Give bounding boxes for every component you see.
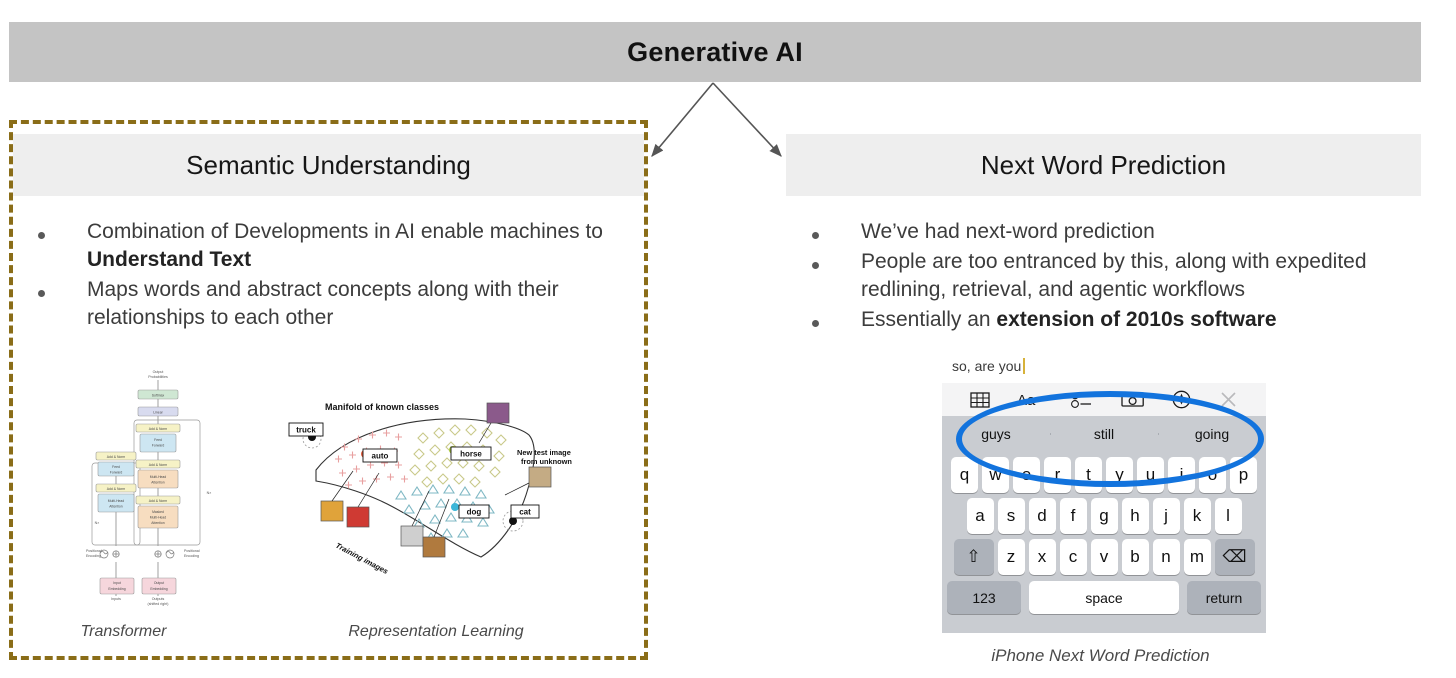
key-i[interactable]: i (1168, 457, 1195, 493)
transformer-nx-left: N× (95, 521, 100, 525)
right-column-header: Next Word Prediction (786, 134, 1421, 196)
transformer-posenc-left-2: Encoding (86, 554, 101, 558)
transformer-posenc-left-1: Positional (86, 549, 102, 553)
transformer-input-embed-1: Input (113, 581, 121, 585)
svg-text:Aa: Aa (1017, 392, 1036, 408)
camera-icon[interactable] (1121, 391, 1145, 408)
backspace-key[interactable]: ⌫ (1215, 539, 1255, 575)
transformer-architecture-figure: Output Probabilities N× N× Positional En… (70, 366, 225, 618)
bullet-text: Essentially an extension of 2010s softwa… (861, 306, 1277, 334)
bullet-dot-icon (812, 232, 819, 239)
new-test-image-label-1: New test image (517, 448, 571, 457)
representation-learning-figure: Manifold of known classes (283, 395, 589, 595)
shift-key[interactable]: ⇧ (954, 539, 994, 575)
transformer-output-label-1: Output (153, 370, 164, 374)
transformer-mha-1a: Multi-Head (150, 475, 167, 479)
key-y[interactable]: y (1106, 457, 1133, 493)
return-key[interactable]: return (1187, 581, 1261, 614)
bullet-text: Combination of Developments in AI enable… (87, 218, 638, 274)
iphone-keyboard-panel: Aa guys still going (942, 383, 1266, 633)
arrow-to-right-box (713, 83, 781, 156)
prediction-word-3[interactable]: going (1158, 426, 1266, 442)
iphone-typed-value: so, are you (952, 358, 1021, 374)
transformer-masked-label: Masked (152, 510, 164, 514)
text-caret (1023, 358, 1025, 374)
new-test-image-label-2: from unknown (521, 457, 572, 466)
transformer-ff-2b: Forward (110, 471, 123, 475)
keyboard-row-4: 123 space return (942, 581, 1266, 614)
prediction-word-2[interactable]: still (1050, 426, 1158, 442)
slide-root: Generative AI Semantic Understanding Nex… (0, 0, 1456, 678)
text-format-icon[interactable]: Aa (1017, 391, 1043, 408)
manifold-title: Manifold of known classes (325, 402, 439, 412)
key-p[interactable]: p (1230, 457, 1257, 493)
transformer-posenc-right-1: Positional (184, 549, 200, 553)
table-icon[interactable] (970, 392, 990, 408)
key-t[interactable]: t (1075, 457, 1102, 493)
slide-title-bar: Generative AI (9, 22, 1421, 82)
transformer-output-label-2: Probabilities (148, 375, 168, 379)
key-g[interactable]: g (1091, 498, 1118, 534)
transformer-ff-2a: Feed (112, 465, 120, 469)
key-b[interactable]: b (1122, 539, 1149, 575)
iphone-toolbar: Aa (942, 383, 1266, 416)
right-column-header-label: Next Word Prediction (981, 150, 1226, 181)
transformer-addnorm-1: Add & Norm (149, 427, 168, 431)
transformer-mha-2b: Attention (151, 521, 164, 525)
key-x[interactable]: x (1029, 539, 1056, 575)
transformer-mha-3a: Multi-Head (108, 499, 125, 503)
transformer-nx-right: N× (207, 491, 212, 495)
transformer-ff-1b: Forward (152, 444, 165, 448)
keyboard-row-3: ⇧ z x c v b n m ⌫ (942, 539, 1266, 575)
training-images-label: Training images (334, 541, 390, 576)
svg-text:horse: horse (460, 450, 482, 459)
transformer-mha-3b: Attention (109, 505, 122, 509)
iphone-typed-text: so, are you (952, 355, 1025, 377)
svg-text:auto: auto (372, 452, 389, 461)
svg-text:cat: cat (519, 508, 531, 517)
key-o[interactable]: o (1199, 457, 1226, 493)
svg-text:truck: truck (296, 426, 316, 435)
predictive-text-bar: guys still going (942, 416, 1266, 452)
transformer-posenc-right-2: Encoding (184, 554, 199, 558)
keyboard-row-2: a s d f g h j k l (942, 498, 1266, 534)
key-l[interactable]: l (1215, 498, 1242, 534)
bullet-text: People are too entranced by this, along … (861, 248, 1417, 304)
transformer-outputs-label-2: (shifted right) (148, 602, 169, 606)
close-icon[interactable] (1219, 390, 1238, 409)
transformer-addnorm-3: Add & Norm (149, 499, 168, 503)
transformer-mha-1b: Attention (151, 481, 164, 485)
bullet-dot-icon (812, 320, 819, 327)
key-f[interactable]: f (1060, 498, 1087, 534)
key-q[interactable]: q (951, 457, 978, 493)
transformer-addnorm-4: Add & Norm (107, 455, 126, 459)
list-item: People are too entranced by this, along … (812, 248, 1417, 304)
transformer-softmax-label: Softmax (152, 394, 165, 398)
keyboard-row-1: q w e r t y u i o p (942, 457, 1266, 493)
caption-transformer: Transformer (40, 623, 207, 641)
left-column-header-label: Semantic Understanding (186, 150, 471, 181)
key-j[interactable]: j (1153, 498, 1180, 534)
iphone-next-word-prediction-mock: so, are you Aa (942, 355, 1266, 633)
bullet-dot-icon (38, 290, 45, 297)
space-key[interactable]: space (1029, 581, 1179, 614)
bullet-text: Maps words and abstract concepts along w… (87, 276, 638, 332)
left-column-header: Semantic Understanding (13, 134, 644, 196)
transformer-addnorm-2: Add & Norm (149, 463, 168, 467)
transformer-mha-2a: Multi-Head (150, 516, 167, 520)
transformer-output-embed-1: Output (154, 581, 164, 585)
transformer-linear-label: Linear (153, 411, 163, 415)
key-k[interactable]: k (1184, 498, 1211, 534)
bullet-dot-icon (38, 232, 45, 239)
bullet-dot-icon (812, 262, 819, 269)
key-a[interactable]: a (967, 498, 994, 534)
page-title: Generative AI (627, 37, 803, 68)
transformer-outputs-label-1: Outputs (152, 597, 165, 601)
key-c[interactable]: c (1060, 539, 1087, 575)
numbers-key[interactable]: 123 (947, 581, 1021, 614)
transformer-inputs-label: Inputs (111, 597, 121, 601)
list-item: Essentially an extension of 2010s softwa… (812, 306, 1417, 334)
right-column-bullet-list: We’ve had next-word prediction People ar… (812, 218, 1417, 336)
key-r[interactable]: r (1044, 457, 1071, 493)
markup-icon[interactable] (1172, 390, 1191, 409)
key-s[interactable]: s (998, 498, 1025, 534)
list-item: Maps words and abstract concepts along w… (38, 276, 638, 332)
key-d[interactable]: d (1029, 498, 1056, 534)
svg-text:dog: dog (467, 508, 482, 517)
left-column-bullet-list: Combination of Developments in AI enable… (38, 218, 638, 334)
caption-iphone-next-word-prediction: iPhone Next Word Prediction (962, 646, 1239, 666)
list-item: Combination of Developments in AI enable… (38, 218, 638, 274)
key-n[interactable]: n (1153, 539, 1180, 575)
key-w[interactable]: w (982, 457, 1009, 493)
key-z[interactable]: z (998, 539, 1025, 575)
key-v[interactable]: v (1091, 539, 1118, 575)
transformer-output-embed-2: Embedding (150, 587, 167, 591)
checklist-icon[interactable] (1071, 392, 1093, 408)
transformer-addnorm-5: Add & Norm (107, 487, 126, 491)
prediction-word-1[interactable]: guys (942, 426, 1050, 442)
bullet-text: We’ve had next-word prediction (861, 218, 1155, 246)
key-e[interactable]: e (1013, 457, 1040, 493)
key-m[interactable]: m (1184, 539, 1211, 575)
key-h[interactable]: h (1122, 498, 1149, 534)
list-item: We’ve had next-word prediction (812, 218, 1417, 246)
key-u[interactable]: u (1137, 457, 1164, 493)
dog-centroid (451, 503, 459, 511)
caption-representation-learning: Representation Learning (325, 623, 547, 641)
transformer-input-embed-2: Embedding (108, 587, 125, 591)
transformer-ff-1a: Feed (154, 438, 162, 442)
arrow-to-left-box (652, 83, 713, 156)
